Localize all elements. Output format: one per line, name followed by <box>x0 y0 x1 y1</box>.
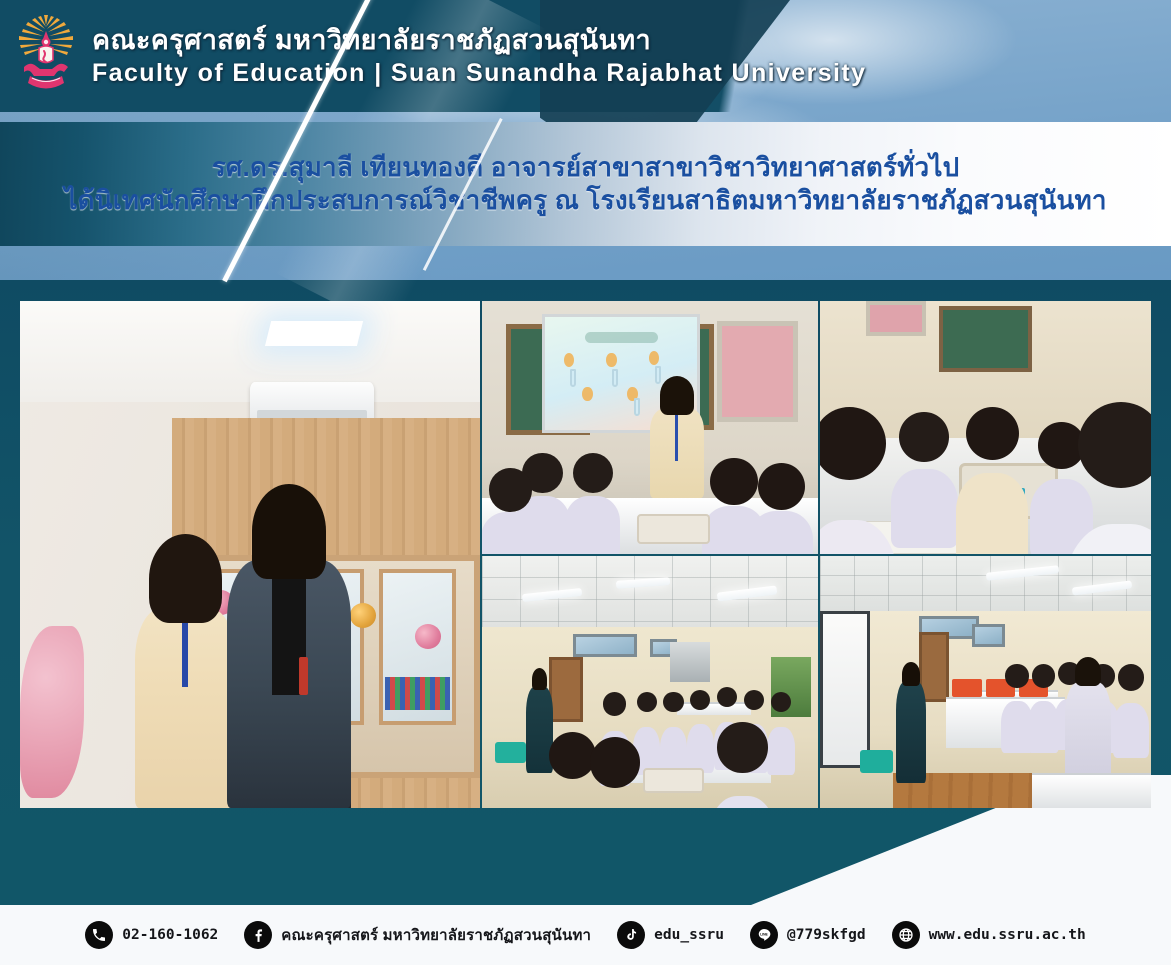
footer-contact-bar: 02-160-1062 คณะครุศาสตร์ มหาวิทยาลัยราชภ… <box>0 905 1171 965</box>
svg-text:LINE: LINE <box>760 932 768 936</box>
contact-tiktok[interactable]: edu_ssru <box>617 921 724 949</box>
header-content: คณะครุศาสตร์ มหาวิทยาลัยราชภัฏสวนสุนันทา… <box>0 0 1171 112</box>
contact-tiktok-label: edu_ssru <box>654 927 724 943</box>
poster-canvas: คณะครุศาสตร์ มหาวิทยาลัยราชภัฏสวนสุนันทา… <box>0 0 1171 965</box>
contact-phone-label: 02-160-1062 <box>122 927 218 943</box>
header-title-block: คณะครุศาสตร์ มหาวิทยาลัยราชภัฏสวนสุนันทา… <box>92 25 866 87</box>
header-title-english: Faculty of Education | Suan Sunandha Raj… <box>92 59 866 87</box>
announcement-title-band: รศ.ดร.สุมาลี เทียนทองดี อาจารย์สาขาสาขาว… <box>0 122 1171 246</box>
photo-gallery-grid <box>20 301 1151 806</box>
photo-supervisor-and-student-teacher <box>20 301 480 808</box>
facebook-icon <box>244 921 272 949</box>
contact-line[interactable]: LINE @779skfgd <box>750 921 866 949</box>
contact-website[interactable]: www.edu.ssru.ac.th <box>892 921 1086 949</box>
phone-icon <box>85 921 113 949</box>
announcement-line-2: ได้นิเทศนักศึกษาฝึกประสบการณ์วิชาชีพครู … <box>64 184 1106 217</box>
contact-phone[interactable]: 02-160-1062 <box>85 921 218 949</box>
line-icon: LINE <box>750 921 778 949</box>
photo-supervisor-observing-class <box>820 556 1151 808</box>
contact-website-label: www.edu.ssru.ac.th <box>929 927 1086 943</box>
photo-science-lesson-projector <box>482 301 818 554</box>
contact-line-label: @779skfgd <box>787 927 866 943</box>
header-title-thai: คณะครุศาสตร์ มหาวิทยาลัยราชภัฏสวนสุนันทา <box>92 25 866 55</box>
announcement-line-1: รศ.ดร.สุมาลี เทียนทองดี อาจารย์สาขาสาขาว… <box>212 151 960 184</box>
ssru-royal-emblem-icon <box>14 15 78 101</box>
contact-facebook[interactable]: คณะครุศาสตร์ มหาวิทยาลัยราชภัฏสวนสุนันทา <box>244 921 591 949</box>
photo-lab-group-experiment <box>820 301 1151 554</box>
photo-classroom-students-clapping <box>482 556 818 808</box>
tiktok-icon <box>617 921 645 949</box>
globe-icon <box>892 921 920 949</box>
contact-facebook-label: คณะครุศาสตร์ มหาวิทยาลัยราชภัฏสวนสุนันทา <box>281 923 591 947</box>
